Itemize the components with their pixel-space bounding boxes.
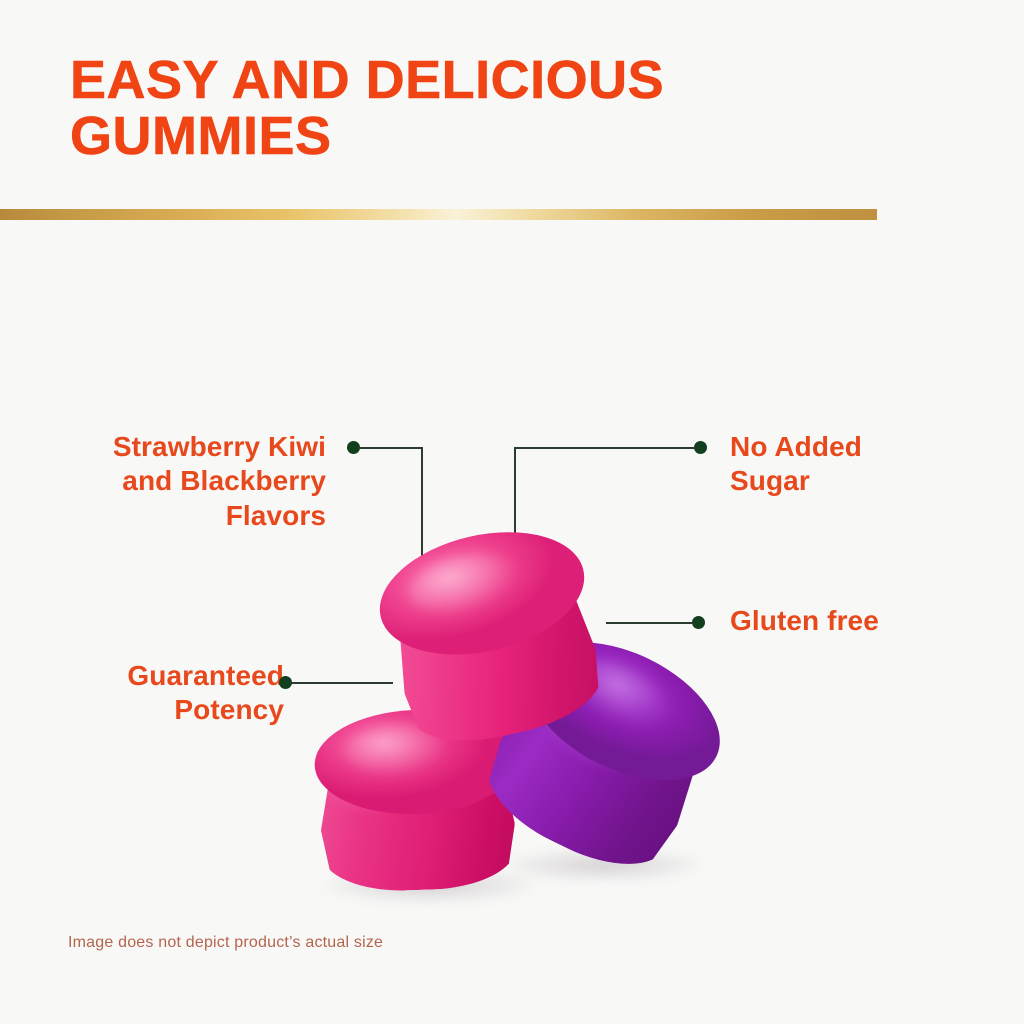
- gold-divider-bar: [0, 209, 877, 220]
- callout-label-gluten-free: Gluten free: [730, 604, 1010, 638]
- callout-label-flavors: Strawberry Kiwi and Blackberry Flavors: [26, 430, 326, 533]
- callout-line-flavors-horizontal: [358, 447, 423, 449]
- gummy-product-group: [290, 520, 730, 920]
- callout-label-no-added-sugar: No Added Sugar: [730, 430, 1010, 499]
- callout-label-guaranteed-potency: Guaranteed Potency: [24, 659, 284, 728]
- page-title: EASY AND DELICIOUS GUMMIES: [70, 52, 850, 164]
- footer-disclaimer: Image does not depict product’s actual s…: [68, 934, 383, 952]
- callout-line-no-added-sugar-horizontal: [515, 447, 696, 449]
- product-feature-image: EASY AND DELICIOUS GUMMIES Strawberry Ki…: [0, 0, 1024, 1024]
